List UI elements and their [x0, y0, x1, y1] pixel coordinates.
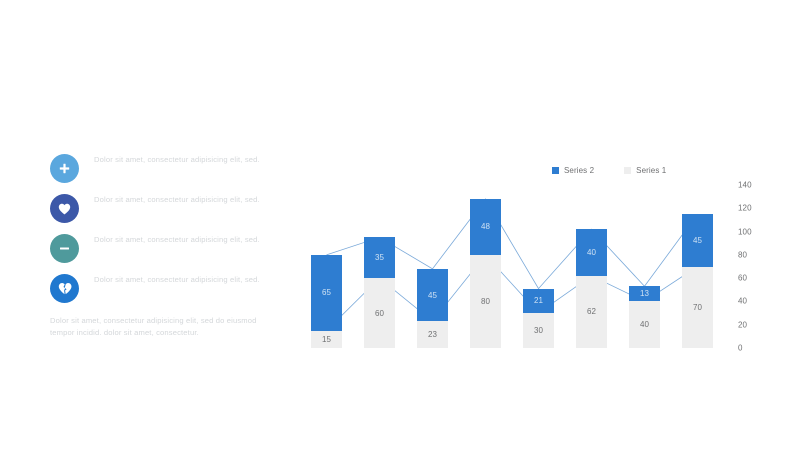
feature-item-3[interactable]: Dolor sit amet, consectetur adipisicing … — [50, 230, 285, 270]
y-axis-tick-label: 140 — [738, 181, 764, 190]
legend-label: Series 2 — [564, 166, 594, 175]
bar-value-label: 21 — [534, 296, 543, 305]
legend-swatch — [624, 167, 631, 174]
feature-item-2[interactable]: Dolor sit amet, consectetur adipisicing … — [50, 190, 285, 230]
chart-y-axis: 020406080100120140 — [730, 185, 764, 348]
bar-segment-series-2[interactable]: 45 — [417, 269, 448, 321]
bar-group[interactable]: 2345 — [417, 185, 448, 348]
bar-value-label: 60 — [375, 309, 384, 318]
bar-segment-series-1[interactable]: 70 — [682, 267, 713, 349]
bar-segment-series-2[interactable]: 35 — [364, 237, 395, 278]
bar-segment-series-2[interactable]: 21 — [523, 289, 554, 313]
feature-item-4[interactable]: Dolor sit amet, consectetur adipisicing … — [50, 270, 285, 310]
y-axis-tick-label: 40 — [738, 297, 764, 306]
bar-value-label: 15 — [322, 335, 331, 344]
bar-segment-series-1[interactable]: 80 — [470, 255, 501, 348]
y-axis-tick-label: 80 — [738, 250, 764, 259]
bar-value-label: 23 — [428, 330, 437, 339]
bar-segment-series-1[interactable]: 15 — [311, 331, 342, 348]
feature-list: Dolor sit amet, consectetur adipisicing … — [50, 150, 285, 310]
bar-value-label: 45 — [428, 291, 437, 300]
bar-segment-series-2[interactable]: 45 — [682, 214, 713, 266]
bar-segment-series-1[interactable]: 60 — [364, 278, 395, 348]
bar-value-label: 30 — [534, 326, 543, 335]
plus-circle-icon — [50, 154, 79, 183]
bar-group[interactable]: 6240 — [576, 185, 607, 348]
feature-item-label: Dolor sit amet, consectetur adipisicing … — [94, 230, 260, 246]
bar-value-label: 62 — [587, 307, 596, 316]
legend-entry-series-1[interactable]: Series 1 — [624, 166, 666, 175]
bar-segment-series-2[interactable]: 65 — [311, 255, 342, 331]
broken-heart-circle-icon — [50, 274, 79, 303]
heart-circle-icon — [50, 194, 79, 223]
bar-value-label: 65 — [322, 288, 331, 297]
y-axis-tick-label: 100 — [738, 227, 764, 236]
legend-swatch — [552, 167, 559, 174]
minus-circle-icon — [50, 234, 79, 263]
bar-value-label: 45 — [693, 236, 702, 245]
bar-group[interactable]: 7045 — [682, 185, 713, 348]
feature-item-label: Dolor sit amet, consectetur adipisicing … — [94, 270, 260, 286]
bar-segment-series-2[interactable]: 40 — [576, 229, 607, 276]
bar-value-label: 70 — [693, 303, 702, 312]
bar-segment-series-1[interactable]: 23 — [417, 321, 448, 348]
bar-group[interactable]: 8048 — [470, 185, 501, 348]
bar-group[interactable]: 1565 — [311, 185, 342, 348]
bar-value-label: 13 — [640, 289, 649, 298]
y-axis-tick-label: 0 — [738, 344, 764, 353]
bar-value-label: 48 — [481, 222, 490, 231]
chart-legend: Series 2 Series 1 — [552, 166, 666, 175]
bar-segment-series-1[interactable]: 40 — [629, 301, 660, 348]
feature-item-label: Dolor sit amet, consectetur adipisicing … — [94, 150, 260, 166]
bar-group[interactable]: 6035 — [364, 185, 395, 348]
bar-value-label: 80 — [481, 297, 490, 306]
legend-label: Series 1 — [636, 166, 666, 175]
feature-item-label: Dolor sit amet, consectetur adipisicing … — [94, 190, 260, 206]
bar-segment-series-1[interactable]: 30 — [523, 313, 554, 348]
bar-value-label: 40 — [587, 248, 596, 257]
bar-group[interactable]: 3021 — [523, 185, 554, 348]
bar-segment-series-2[interactable]: 48 — [470, 199, 501, 255]
description-paragraph: Dolor sit amet, consectetur adipisicing … — [50, 315, 260, 338]
y-axis-tick-label: 20 — [738, 320, 764, 329]
feature-item-1[interactable]: Dolor sit amet, consectetur adipisicing … — [50, 150, 285, 190]
bar-group[interactable]: 4013 — [629, 185, 660, 348]
chart-plot-area: 15656035234580483021624040137045 — [300, 185, 724, 348]
bar-segment-series-2[interactable]: 13 — [629, 286, 660, 301]
bar-segment-series-1[interactable]: 62 — [576, 276, 607, 348]
bar-value-label: 40 — [640, 320, 649, 329]
y-axis-tick-label: 120 — [738, 204, 764, 213]
legend-entry-series-2[interactable]: Series 2 — [552, 166, 594, 175]
bar-value-label: 35 — [375, 253, 384, 262]
stacked-bar-chart: Series 2 Series 1 1565603523458048302162… — [300, 160, 770, 360]
y-axis-tick-label: 60 — [738, 274, 764, 283]
